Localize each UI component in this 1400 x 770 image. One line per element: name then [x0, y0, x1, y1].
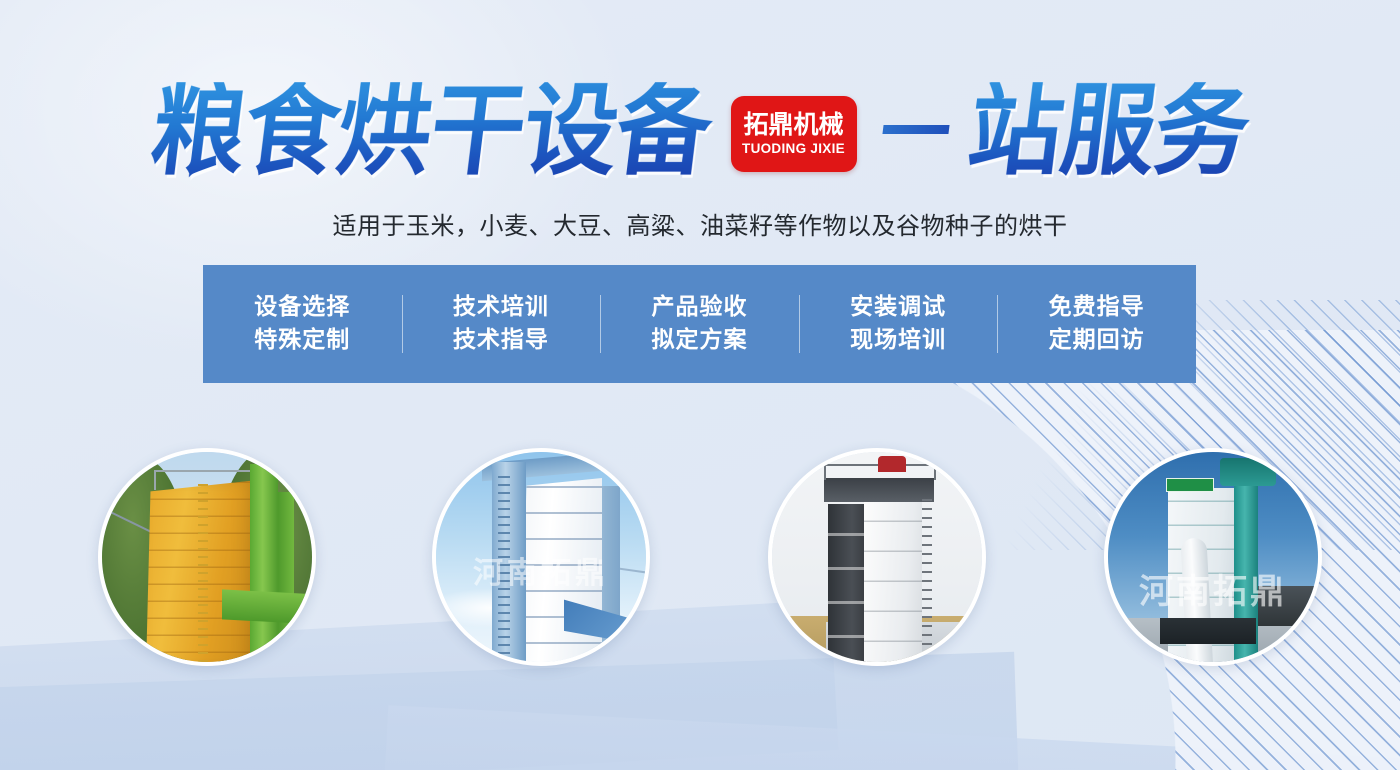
top-railing	[154, 470, 262, 490]
bucket-elevator-secondary	[278, 492, 294, 666]
product-photo-3-image	[772, 452, 982, 662]
dryer-tower	[864, 492, 922, 666]
product-photo-1[interactable]	[98, 448, 316, 666]
tower-base	[1160, 618, 1256, 644]
product-photo-4-image: 河南拓鼎	[1108, 452, 1318, 662]
tower-cap	[824, 478, 934, 502]
photo-watermark: 河南拓鼎	[1108, 564, 1318, 613]
elevator-head	[1220, 458, 1276, 486]
product-photo-gallery: 河南拓鼎	[0, 0, 1400, 770]
tower-dark-section	[828, 504, 868, 666]
bucket-elevator	[250, 464, 278, 666]
tower-ladder	[198, 482, 208, 666]
red-equipment-housing	[878, 456, 906, 472]
product-photo-4[interactable]: 河南拓鼎	[1104, 448, 1322, 666]
photo-watermark: 河南拓鼎	[436, 548, 646, 592]
product-photo-2-image: 河南拓鼎	[436, 452, 646, 662]
tower-ladder	[922, 492, 932, 666]
conveyor-arm	[222, 589, 316, 624]
product-photo-3[interactable]	[768, 448, 986, 666]
product-photo-1-image	[102, 452, 312, 662]
product-photo-2[interactable]: 河南拓鼎	[432, 448, 650, 666]
brand-sign	[1166, 478, 1214, 492]
promotional-banner: 粮食烘干设备 拓鼎机械 TUODING JIXIE 站服务 适用于玉米，小麦、大…	[0, 0, 1400, 770]
